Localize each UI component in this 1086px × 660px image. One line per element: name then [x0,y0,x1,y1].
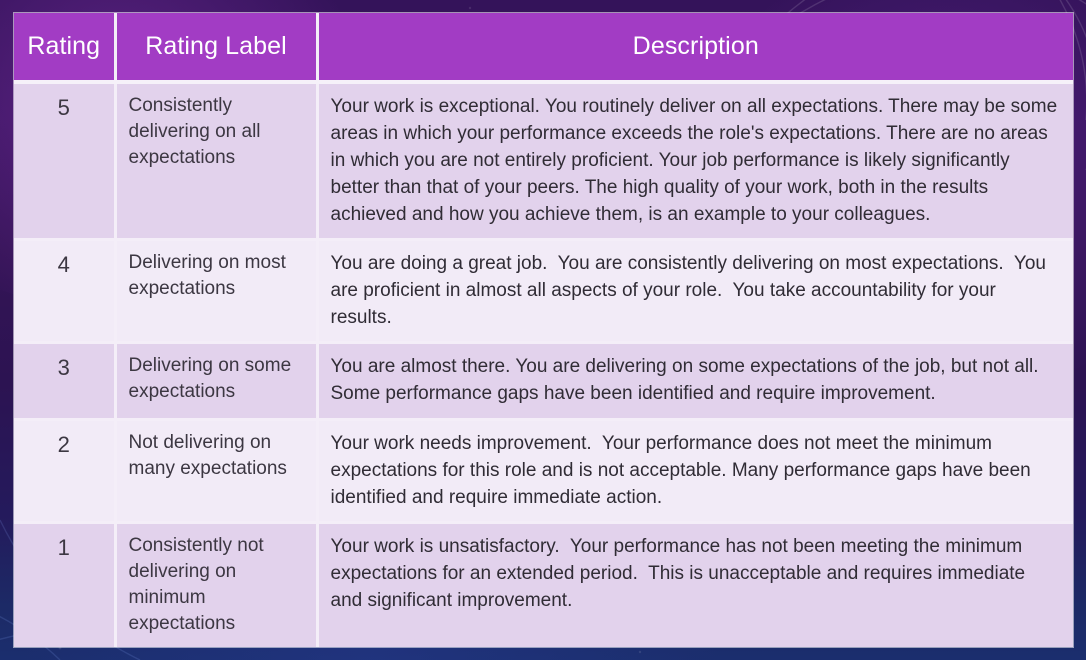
rating-label-value: Not delivering on many expectations [115,419,317,522]
rating-scale-table: Rating Rating Label Description 5 Consis… [14,13,1073,647]
description-value: You are doing a great job. You are consi… [317,240,1073,343]
table-row: 2 Not delivering on many expectations Yo… [14,419,1073,522]
rating-label-value: Delivering on some expectations [115,343,317,419]
rating-value: 1 [14,522,115,647]
rating-value: 5 [14,82,115,240]
table-header: Rating Rating Label Description [14,13,1073,82]
table-row: 4 Delivering on most expectations You ar… [14,240,1073,343]
description-value: Your work is unsatisfactory. Your perfor… [317,522,1073,647]
rating-label-value: Delivering on most expectations [115,240,317,343]
description-value: You are almost there. You are delivering… [317,343,1073,419]
rating-value: 4 [14,240,115,343]
rating-scale-table-container: Rating Rating Label Description 5 Consis… [14,13,1073,647]
table-row: 3 Delivering on some expectations You ar… [14,343,1073,419]
column-header-description: Description [317,13,1073,82]
table-header-row: Rating Rating Label Description [14,13,1073,82]
table-body: 5 Consistently delivering on all expecta… [14,82,1073,647]
table-row: 1 Consistently not delivering on minimum… [14,522,1073,647]
rating-value: 2 [14,419,115,522]
description-value: Your work is exceptional. You routinely … [317,82,1073,240]
rating-label-value: Consistently delivering on all expectati… [115,82,317,240]
column-header-rating: Rating [14,13,115,82]
rating-value: 3 [14,343,115,419]
description-value: Your work needs improvement. Your perfor… [317,419,1073,522]
column-header-rating-label: Rating Label [115,13,317,82]
table-row: 5 Consistently delivering on all expecta… [14,82,1073,240]
rating-label-value: Consistently not delivering on minimum e… [115,522,317,647]
